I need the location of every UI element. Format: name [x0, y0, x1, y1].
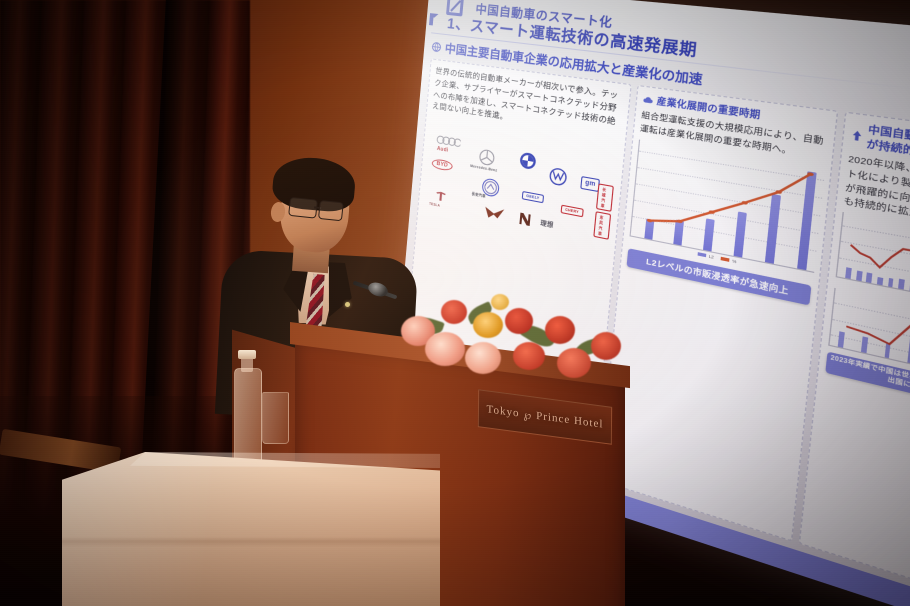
up-arrow-icon	[850, 129, 864, 142]
venue-name-right: Prince Hotel	[536, 410, 603, 431]
corner-bracket-icon	[428, 12, 444, 30]
logo-bmw	[518, 151, 537, 172]
logo-nio	[517, 211, 533, 227]
legend-bar-item: L2	[698, 252, 714, 260]
water-bottle-cap	[238, 350, 256, 359]
logo-great-wall: 长城汽車	[596, 183, 614, 212]
logo-xpeng	[483, 204, 506, 223]
logo-chery: CHERY	[561, 205, 584, 218]
logo-audi-label: Audi	[437, 146, 449, 154]
venue-logo-icon: ℘	[523, 408, 532, 422]
column-left-body: 世界の伝統的自動車メーカーが相次いで参入。テック企業、サプライヤーがスマートコネ…	[432, 65, 625, 141]
logo-mercedes-benz	[478, 148, 495, 167]
table-cloth-fold	[62, 452, 440, 606]
venue-name-left: Tokyo	[486, 403, 519, 419]
legend-line-item: %	[721, 256, 737, 264]
drinking-glass	[262, 392, 289, 444]
chart-trend-line	[631, 139, 826, 271]
cloud-icon	[642, 94, 653, 105]
logo-tesla-label: TESLA	[429, 202, 440, 208]
logo-volkswagen	[548, 166, 568, 187]
chart-l2-penetration	[630, 139, 826, 272]
speaker-lapel-pin	[345, 302, 350, 307]
logo-geely: GEELY	[522, 191, 544, 203]
screenshot-root: 中国自動車のスマート化 1、スマート運転技術の高速発展期 中国主要自動車企業の応…	[0, 0, 910, 606]
glasses-lens-right	[318, 200, 344, 221]
logo-li-auto: 理想	[540, 218, 554, 230]
logo-byd: BYD	[431, 158, 453, 172]
logo-dongfeng: 东风汽車	[593, 211, 611, 240]
logo-tesla	[434, 189, 447, 204]
column-middle: 産業化展開の重要時期 組合型運転支援の大規模応用により、自動運転は産業化展開の重…	[599, 85, 839, 542]
flower-arrangement	[395, 288, 630, 403]
globe-bullet-icon	[431, 41, 441, 52]
water-bottle	[234, 368, 262, 466]
